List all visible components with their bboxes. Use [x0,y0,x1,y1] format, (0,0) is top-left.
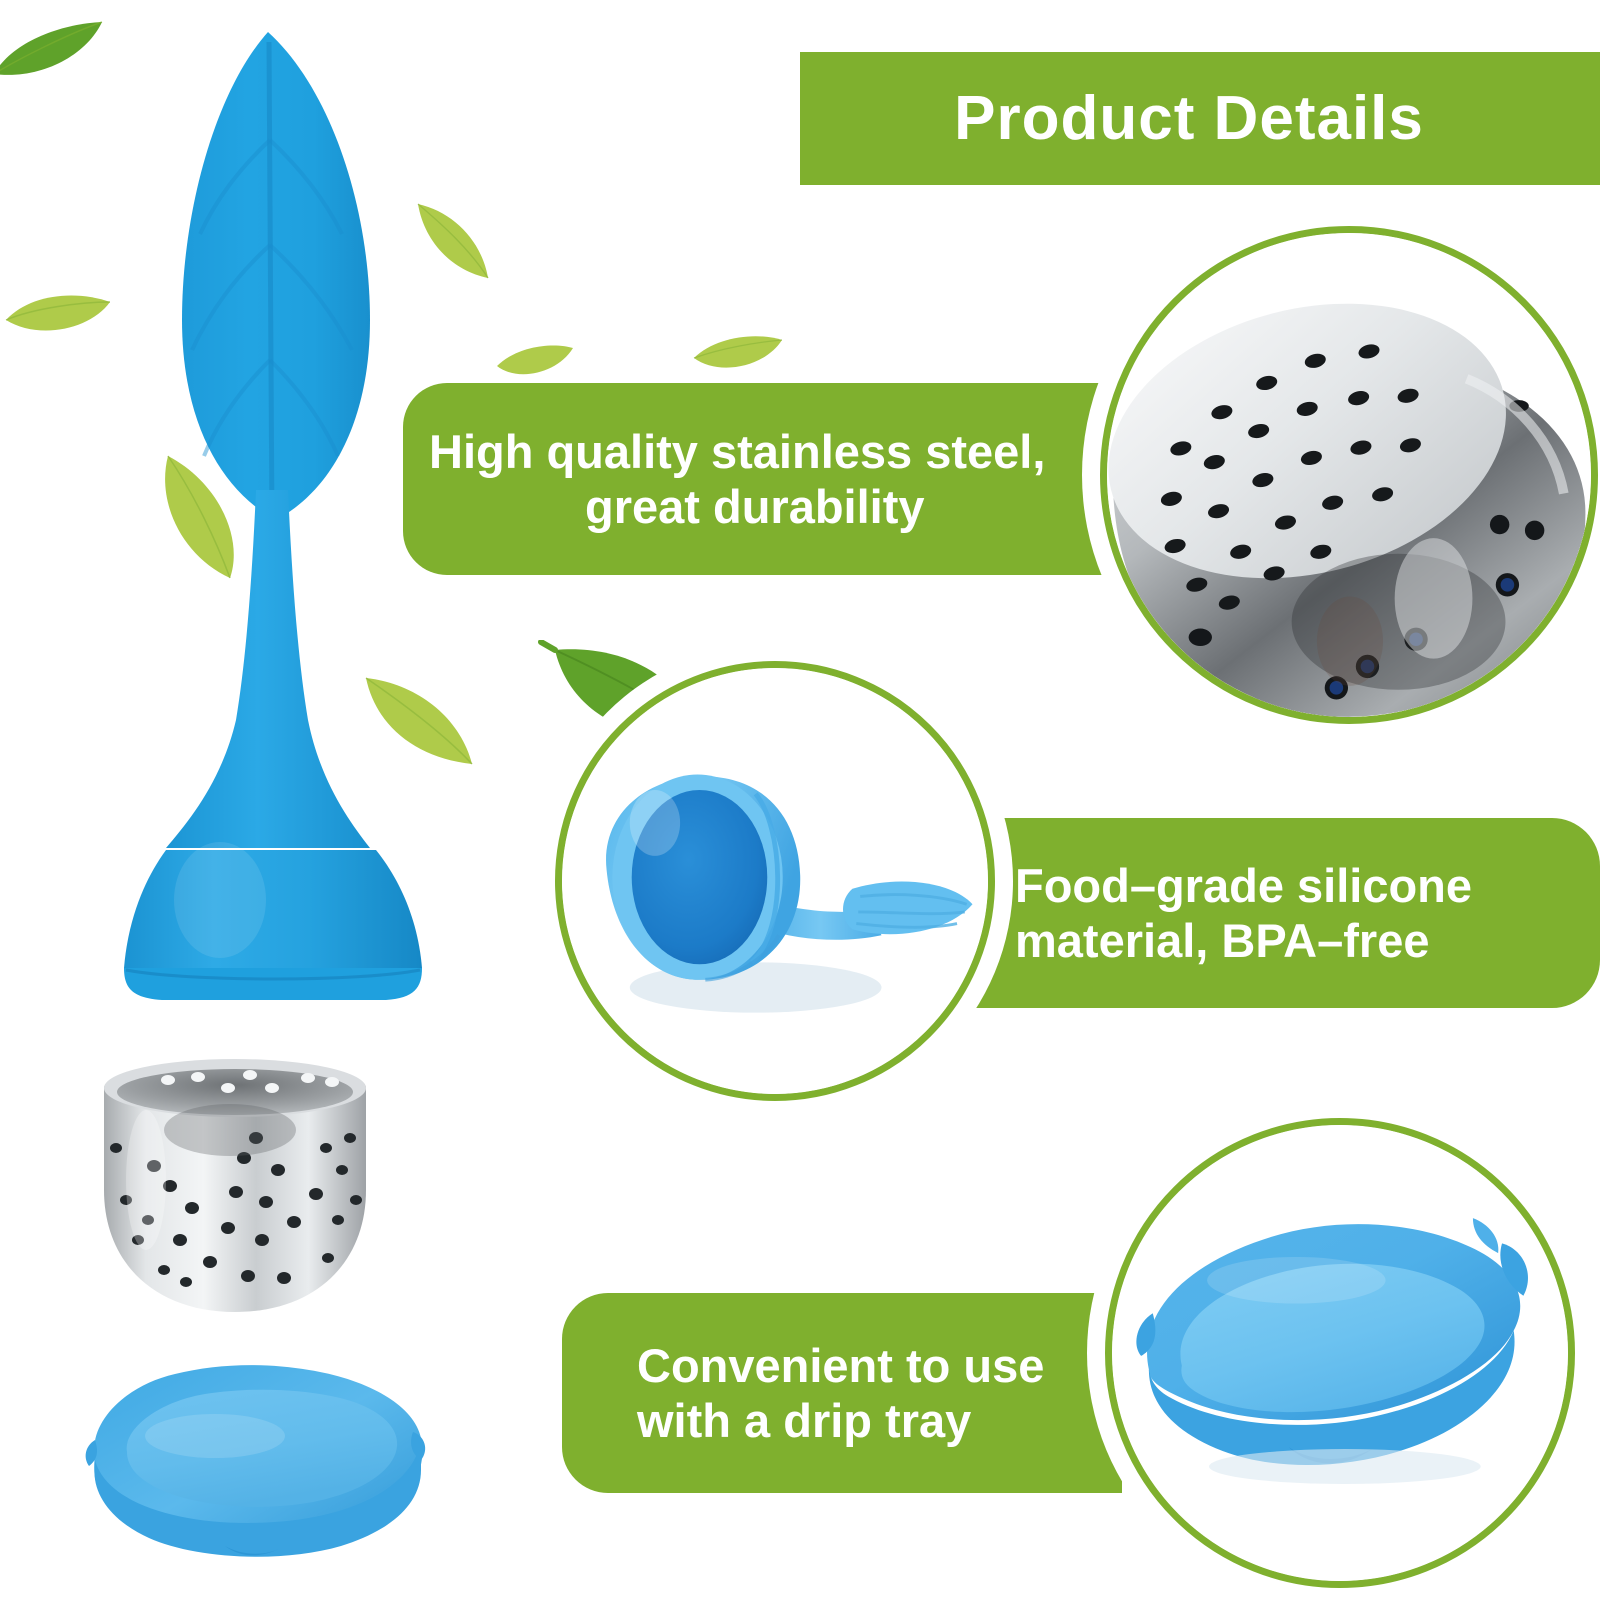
feature-image-drip-tray [1105,1118,1575,1588]
feature-line-1: Convenient to use [637,1338,1122,1393]
product-drip-tray-image [65,1340,455,1600]
feature-line-2: great durability [423,479,1103,534]
feature-line-2: with a drip tray [637,1393,1122,1448]
product-steel-basket-image [80,1030,390,1330]
feature-callout-stainless-steel: High quality stainless steel, great dura… [403,383,1103,575]
circle-photo-silicone-cover [562,668,988,1094]
header-banner: Product Details [800,52,1600,185]
decor-leaf-icon [692,330,784,380]
infographic-canvas: High quality stainless steel, great dura… [0,0,1600,1600]
decor-leaf-icon [495,340,575,386]
feature-callout-food-grade-silicone: Food–grade silicone material, BPA–free [955,818,1600,1008]
feature-line-1: Food–grade silicone [1015,858,1600,913]
feature-callout-drip-tray: Convenient to use with a drip tray [562,1293,1122,1493]
circle-photo-stainless-steel [1107,233,1591,717]
page-title: Product Details [954,88,1446,150]
feature-line-1: High quality stainless steel, [423,424,1103,479]
feature-line-2: material, BPA–free [1015,913,1600,968]
feature-image-stainless-steel [1100,226,1598,724]
circle-photo-drip-tray [1112,1125,1568,1581]
feature-image-food-grade-silicone [555,661,995,1101]
